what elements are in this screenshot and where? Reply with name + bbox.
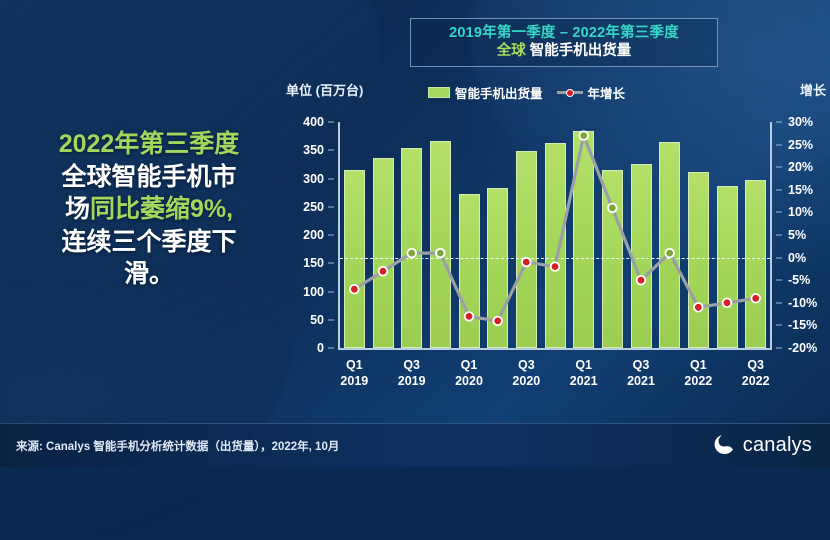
y-axis-left-tick-label: 250: [282, 200, 324, 214]
y-axis-right-tick-label: -15%: [788, 318, 830, 332]
headline-line-4: 连续三个季度下: [18, 226, 280, 259]
canalys-mark-icon: [711, 432, 737, 458]
y-axis-left-tick-label: 200: [282, 228, 324, 242]
x-axis-year: 2019: [398, 374, 426, 390]
y-axis-left-tick-label: 100: [282, 285, 324, 299]
legend-item-growth[interactable]: 年增长: [557, 83, 626, 102]
y-axis-right-tick-mark: [776, 235, 782, 236]
y-axis-left-tick-label: 400: [282, 115, 324, 129]
growth-data-point: Q1 2022: -11%: [694, 303, 703, 312]
growth-data-point: Q1 2019: -7%: [350, 285, 359, 294]
x-axis-labels: Q12019Q32019Q12020Q32020Q12021Q32021Q120…: [340, 354, 770, 400]
y-axis-right-tick-mark: [776, 325, 782, 326]
y-axis-right-tick-mark: [776, 144, 782, 145]
x-axis-year: 2020: [455, 374, 483, 390]
growth-data-point: Q1 2021: 27%: [579, 131, 588, 140]
y-axis-left-tick-label: 0: [282, 341, 324, 355]
growth-data-point: Q4 2021: 1%: [665, 249, 674, 258]
y-axis-left-tick-mark: [328, 319, 334, 320]
growth-line-series: Q1 2019: -7%Q2 2019: -3%Q3 2019: 1%Q4 20…: [340, 122, 770, 348]
y-axis-right-tick-mark: [776, 212, 782, 213]
x-axis-quarter: Q1: [570, 358, 598, 374]
y-axis-right-tick-mark: [776, 302, 782, 303]
chart-legend: 智能手机出货量 年增长: [428, 83, 625, 102]
x-axis-tick-label: Q12020: [455, 358, 483, 389]
headline-line-1: 2022年第三季度: [18, 128, 280, 161]
x-axis-quarter: Q3: [512, 358, 540, 374]
footer: 来源: Canalys 智能手机分析统计数据（出货量），2022年, 10月 c…: [0, 423, 830, 467]
y-axis-right-tick-mark: [776, 122, 782, 123]
x-axis-year: 2020: [512, 374, 540, 390]
y-axis-right-tick-label: -10%: [788, 296, 830, 310]
headline-highlight: 同比萎缩9%,: [90, 195, 233, 223]
headline-line-3-prefix: 场: [65, 195, 90, 223]
legend-swatch-icon: [428, 87, 450, 98]
y-axis-right: 30%25%20%15%10%5%0%-5%-10%-15%-20%: [776, 116, 830, 348]
growth-data-point: Q3 2021: -5%: [637, 276, 646, 285]
canalys-logo: canalys: [711, 432, 812, 458]
growth-data-point: Q2 2022: -10%: [723, 299, 732, 308]
plot-area: Q1 2019: -7%Q2 2019: -3%Q3 2019: 1%Q4 20…: [340, 122, 770, 348]
chart: 单位 (百万台) 增长 智能手机出货量 年增长 0501001502002503…: [282, 78, 830, 408]
y-axis-left-tick-mark: [328, 122, 334, 123]
x-axis-tick-label: Q12021: [570, 358, 598, 389]
legend-label-growth: 年增长: [588, 83, 626, 102]
x-axis-tick-label: Q12022: [684, 358, 712, 389]
y-axis-left-tick-label: 50: [282, 313, 324, 327]
chart-title-metric: 智能手机出货量: [530, 43, 632, 59]
y-axis-left-tick-label: 300: [282, 172, 324, 186]
x-axis-quarter: Q1: [455, 358, 483, 374]
y-axis-right-tick-mark: [776, 257, 782, 258]
y-axis-left-tick-mark: [328, 178, 334, 179]
slide-root: 2019年第一季度 – 2022年第三季度 全球 智能手机出货量 2022年第三…: [0, 0, 830, 467]
page-title: 2022年第三季度 全球智能手机市 场同比萎缩9%, 连续三个季度下 滑。: [18, 128, 280, 291]
y-axis-left-tick-mark: [328, 348, 334, 349]
growth-data-point: Q4 2020: -2%: [551, 262, 560, 271]
x-axis-quarter: Q3: [742, 358, 770, 374]
growth-data-point: Q4 2019: 1%: [436, 249, 445, 258]
x-axis-line: [338, 348, 772, 350]
y-axis-right-tick-label: 10%: [788, 205, 830, 219]
legend-line-marker-icon: [557, 87, 583, 98]
headline-line-5: 滑。: [18, 258, 280, 291]
x-axis-quarter: Q3: [398, 358, 426, 374]
headline-line-3: 场同比萎缩9%,: [18, 193, 280, 226]
x-axis-tick-label: Q32022: [742, 358, 770, 389]
canalys-wordmark: canalys: [743, 434, 812, 457]
y-axis-right-tick-label: 20%: [788, 160, 830, 174]
y-axis-right-tick-label: 15%: [788, 183, 830, 197]
x-axis-year: 2019: [340, 374, 368, 390]
y-axis-right-tick-label: 5%: [788, 228, 830, 242]
chart-title-region: 全球: [497, 43, 526, 59]
x-axis-year: 2022: [742, 374, 770, 390]
x-axis-quarter: Q3: [627, 358, 655, 374]
x-axis-year: 2021: [570, 374, 598, 390]
y-axis-left-tick-mark: [328, 206, 334, 207]
headline-line-2: 全球智能手机市: [18, 161, 280, 194]
y-axis-left-tick-label: 350: [282, 143, 324, 157]
growth-data-point: Q3 2019: 1%: [407, 249, 416, 258]
y-axis-right-tick-label: 30%: [788, 115, 830, 129]
y-axis-left-tick-mark: [328, 235, 334, 236]
x-axis-tick-label: Q32019: [398, 358, 426, 389]
growth-data-point: Q1 2020: -13%: [465, 312, 474, 321]
y-axis-right-tick-label: -20%: [788, 341, 830, 355]
y-axis-right-title: 增长: [800, 80, 826, 99]
y-axis-right-tick-label: 0%: [788, 251, 830, 265]
growth-data-point: Q3 2020: -1%: [522, 258, 531, 267]
x-axis-year: 2022: [684, 374, 712, 390]
growth-data-point: Q2 2021: 11%: [608, 204, 617, 213]
chart-title-subject: 全球 智能手机出货量: [497, 42, 632, 60]
y-axis-right-tick-mark: [776, 189, 782, 190]
y-axis-right-tick-label: -5%: [788, 273, 830, 287]
legend-label-shipments: 智能手机出货量: [455, 83, 543, 102]
y-axis-right-tick-mark: [776, 348, 782, 349]
x-axis-tick-label: Q12019: [340, 358, 368, 389]
x-axis-tick-label: Q32020: [512, 358, 540, 389]
source-note: 来源: Canalys 智能手机分析统计数据（出货量），2022年, 10月: [16, 438, 339, 454]
y-axis-right-tick-mark: [776, 167, 782, 168]
x-axis-year: 2021: [627, 374, 655, 390]
growth-data-point: Q2 2020: -14%: [493, 317, 502, 326]
y-axis-left-tick-mark: [328, 150, 334, 151]
chart-title-box: 2019年第一季度 – 2022年第三季度 全球 智能手机出货量: [410, 18, 718, 67]
growth-data-point: Q3 2022: -9%: [751, 294, 760, 303]
chart-title-period: 2019年第一季度 – 2022年第三季度: [449, 25, 679, 42]
growth-data-point: Q2 2019: -3%: [379, 267, 388, 276]
x-axis-quarter: Q1: [684, 358, 712, 374]
y-axis-left-tick-label: 150: [282, 256, 324, 270]
legend-item-shipments[interactable]: 智能手机出货量: [428, 83, 543, 102]
y-axis-left: 050100150200250300350400: [282, 116, 334, 348]
y-axis-right-tick-label: 25%: [788, 138, 830, 152]
growth-line-path: [354, 136, 755, 321]
x-axis-quarter: Q1: [340, 358, 368, 374]
x-axis-tick-label: Q32021: [627, 358, 655, 389]
y-axis-left-title: 单位 (百万台): [286, 80, 363, 99]
y-axis-right-tick-mark: [776, 280, 782, 281]
y-axis-right-line: [770, 122, 772, 348]
y-axis-left-tick-mark: [328, 291, 334, 292]
y-axis-left-tick-mark: [328, 263, 334, 264]
